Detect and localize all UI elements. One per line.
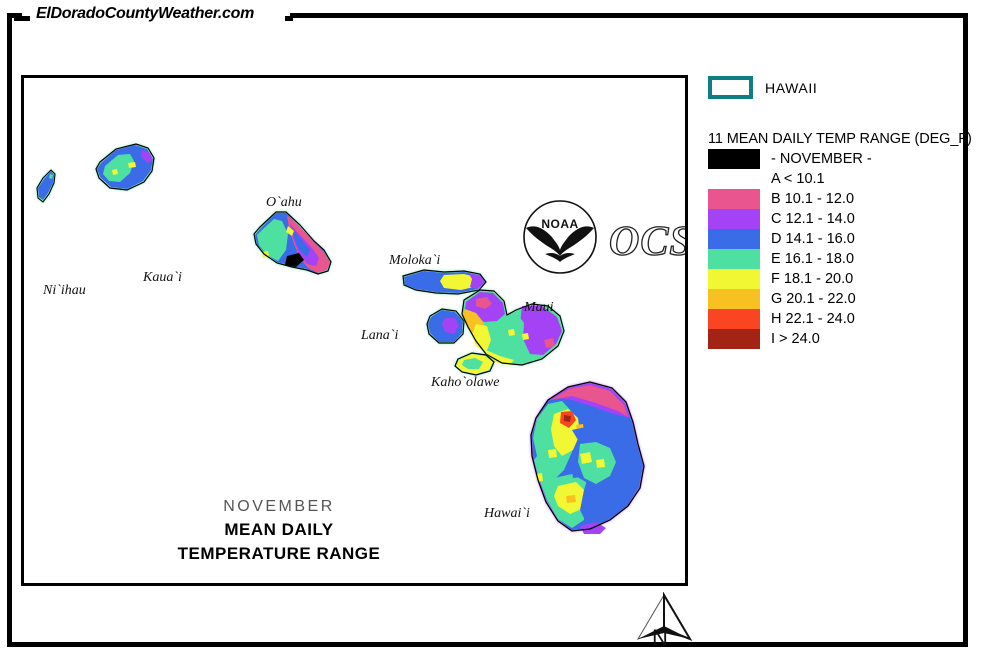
island-label-maui: Maui — [524, 300, 554, 316]
legend-swatch-h — [708, 309, 760, 329]
legend-swatch-d — [708, 229, 760, 249]
legend-swatch-a — [708, 169, 760, 189]
title-rule-right — [285, 16, 293, 21]
island-oahu — [254, 212, 331, 274]
legend-area-swatch — [708, 76, 753, 99]
legend-row-d: D 14.1 - 16.0 — [708, 229, 974, 249]
island-kauai — [96, 144, 154, 190]
legend-swatch-b — [708, 189, 760, 209]
legend-subheading: - NOVEMBER - — [771, 149, 872, 169]
legend-swatch-e — [708, 249, 760, 269]
legend-row-i: I > 24.0 — [708, 329, 974, 349]
legend-label-b: B 10.1 - 12.0 — [771, 189, 854, 209]
legend-row-a: A < 10.1 — [708, 169, 974, 189]
island-niihau — [37, 170, 55, 202]
legend-row-f: F 18.1 - 20.0 — [708, 269, 974, 289]
legend-row-g: G 20.1 - 22.0 — [708, 289, 974, 309]
legend-label-a: A < 10.1 — [771, 169, 825, 189]
legend-label-f: F 18.1 - 20.0 — [771, 269, 853, 289]
map-panel: Ni`ihau Kaua`i O`ahu Moloka`i Lana`i Mau… — [21, 75, 688, 586]
island-label-hawaii: Hawai`i — [484, 506, 530, 522]
legend-swatch-i — [708, 329, 760, 349]
legend-swatch-c — [708, 209, 760, 229]
island-label-niihau: Ni`ihau — [43, 283, 86, 299]
legend-row-e: E 16.1 - 18.0 — [708, 249, 974, 269]
island-label-kauai: Kaua`i — [143, 270, 182, 286]
legend-row-h: H 22.1 - 24.0 — [708, 309, 974, 329]
legend-classes: 11 MEAN DAILY TEMP RANGE (DEG_F) - NOVEM… — [708, 131, 974, 349]
legend-label-g: G 20.1 - 22.0 — [771, 289, 856, 309]
noaa-emblem-text: NOAA — [541, 217, 578, 231]
island-lanai — [427, 309, 464, 343]
island-hawaii — [531, 382, 644, 534]
map-title-line2: TEMPERATURE RANGE — [144, 544, 414, 564]
island-kahoolawe — [455, 353, 494, 375]
map-title-month: NOVEMBER — [144, 498, 414, 516]
ocs-wordmark: OCS — [609, 218, 688, 266]
legend-label-e: E 16.1 - 18.0 — [771, 249, 854, 269]
legend-swatch-g — [708, 289, 760, 309]
legend-swatch-f — [708, 269, 760, 289]
legend-label-c: C 12.1 - 14.0 — [771, 209, 855, 229]
legend-row-subheading: - NOVEMBER - — [708, 149, 974, 169]
site-title: ElDoradoCountyWeather.com — [30, 3, 260, 25]
island-label-oahu: O`ahu — [266, 195, 302, 211]
north-label: N — [652, 625, 668, 651]
legend-label-h: H 22.1 - 24.0 — [771, 309, 855, 329]
legend-area-key: HAWAII — [708, 76, 974, 99]
island-label-molokai: Moloka`i — [389, 253, 440, 269]
island-molokai — [403, 270, 486, 294]
legend-row-c: C 12.1 - 14.0 — [708, 209, 974, 229]
island-label-kahoolawe: Kaho`olawe — [431, 375, 499, 391]
legend-swatch-black — [708, 149, 760, 169]
noaa-logo-icon: NOAA — [521, 198, 599, 276]
legend-area-label: HAWAII — [765, 80, 817, 96]
legend-panel: HAWAII 11 MEAN DAILY TEMP RANGE (DEG_F) … — [708, 76, 974, 349]
legend-label-d: D 14.1 - 16.0 — [771, 229, 855, 249]
legend-heading: 11 MEAN DAILY TEMP RANGE (DEG_F) — [708, 131, 974, 147]
map-title-block: NOVEMBER MEAN DAILY TEMPERATURE RANGE — [144, 498, 414, 564]
legend-label-i: I > 24.0 — [771, 329, 820, 349]
legend-row-b: B 10.1 - 12.0 — [708, 189, 974, 209]
map-title-line1: MEAN DAILY — [144, 520, 414, 540]
island-label-lanai: Lana`i — [361, 328, 398, 344]
